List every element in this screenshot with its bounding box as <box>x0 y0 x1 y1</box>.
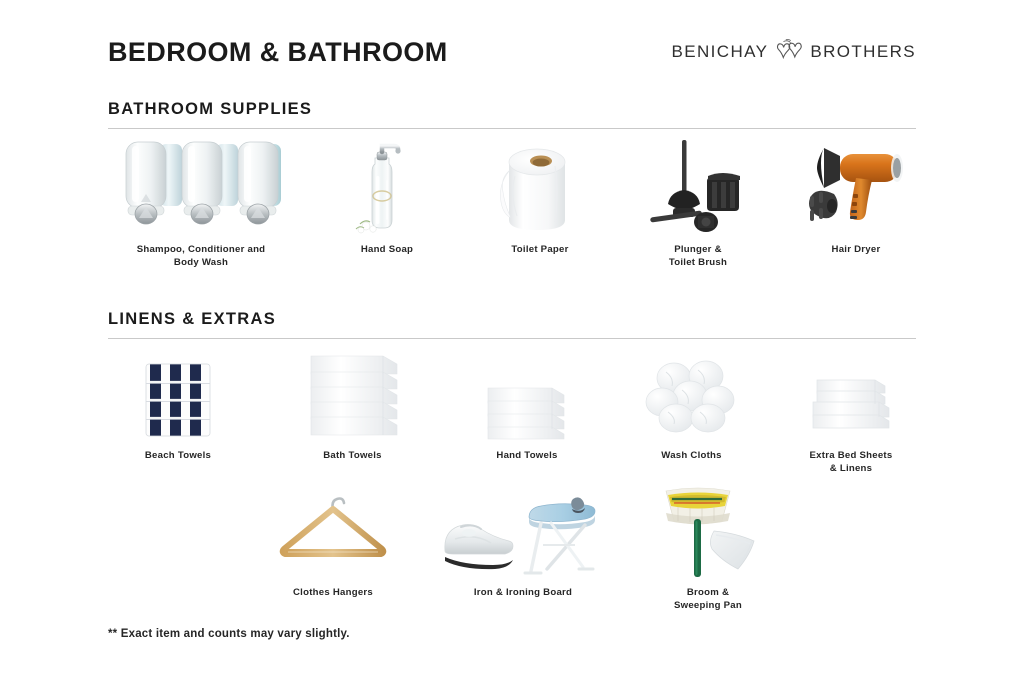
logo-word-left: BENICHAY <box>671 42 768 62</box>
section-title: LINENS & EXTRAS <box>108 310 916 329</box>
folded-bed-sheets-icon <box>799 350 903 442</box>
list-item[interactable]: Hand Towels <box>457 350 597 475</box>
list-item[interactable]: Iron & Ironing Board <box>428 487 618 612</box>
list-item[interactable]: Hand Soap <box>332 136 442 269</box>
item-label: Extra Bed Sheets & Linens <box>810 449 893 475</box>
item-label: Iron & Ironing Board <box>474 586 572 599</box>
item-grid-linens: Beach Towels <box>108 350 916 475</box>
item-label: Broom & Sweeping Pan <box>674 586 742 612</box>
item-label: Clothes Hangers <box>293 586 373 599</box>
double-heart-monogram-icon <box>772 38 806 66</box>
plunger-and-toilet-brush-icon <box>642 136 754 236</box>
white-bath-towels-stack-icon <box>293 350 413 442</box>
brand-logo: BENICHAY BROTHERS <box>671 38 916 66</box>
hair-dryer-icon <box>798 136 914 236</box>
broom-and-dustpan-icon <box>648 487 768 579</box>
item-label: Hand Towels <box>496 449 557 462</box>
section-header-bathroom-supplies: BATHROOM SUPPLIES <box>108 100 916 129</box>
item-label: Hand Soap <box>361 243 413 256</box>
white-hand-towels-stack-icon <box>474 350 580 442</box>
list-item[interactable]: Shampoo, Conditioner and Body Wash <box>108 136 294 269</box>
triple-soap-dispenser-icon <box>116 136 286 236</box>
item-label: Toilet Paper <box>511 243 568 256</box>
list-item[interactable]: Bath Towels <box>278 350 428 475</box>
list-item[interactable]: Wash Cloths <box>627 350 757 475</box>
list-item[interactable]: Clothes Hangers <box>258 487 408 612</box>
list-item[interactable]: Toilet Paper <box>480 136 600 269</box>
list-item[interactable]: Beach Towels <box>108 350 248 475</box>
item-label: Plunger & Toilet Brush <box>669 243 727 269</box>
item-label: Beach Towels <box>145 449 211 462</box>
list-item[interactable]: Hair Dryer <box>796 136 916 269</box>
list-item[interactable]: Broom & Sweeping Pan <box>638 487 778 612</box>
section-title: BATHROOM SUPPLIES <box>108 100 916 119</box>
item-label: Wash Cloths <box>661 449 722 462</box>
section-divider <box>108 338 916 339</box>
logo-word-right: BROTHERS <box>810 42 916 62</box>
item-label: Shampoo, Conditioner and Body Wash <box>137 243 266 269</box>
page-title: BEDROOM & BATHROOM <box>108 39 448 66</box>
item-grid-extras: Clothes Hangers <box>258 487 778 612</box>
list-item[interactable]: Plunger & Toilet Brush <box>638 136 758 269</box>
footnote: ** Exact item and counts may vary slight… <box>108 628 350 640</box>
header: BEDROOM & BATHROOM BENICHAY BROTHERS <box>108 28 916 76</box>
section-divider <box>108 128 916 129</box>
iron-and-ironing-board-icon <box>433 487 613 579</box>
toilet-paper-roll-icon <box>485 136 595 236</box>
item-label: Hair Dryer <box>832 243 881 256</box>
hand-soap-pump-bottle-icon <box>352 136 422 236</box>
list-item[interactable]: Extra Bed Sheets & Linens <box>786 350 916 475</box>
slide-canvas: BEDROOM & BATHROOM BENICHAY BROTHERS BAT… <box>0 0 1024 683</box>
item-label: Bath Towels <box>323 449 382 462</box>
striped-beach-towels-stack-icon <box>122 350 234 442</box>
wooden-clothes-hanger-icon <box>268 487 398 579</box>
item-grid-bathroom-supplies: Shampoo, Conditioner and Body Wash <box>108 136 916 269</box>
section-header-linens-extras: LINENS & EXTRAS <box>108 310 916 339</box>
rolled-wash-cloths-icon <box>640 350 744 442</box>
